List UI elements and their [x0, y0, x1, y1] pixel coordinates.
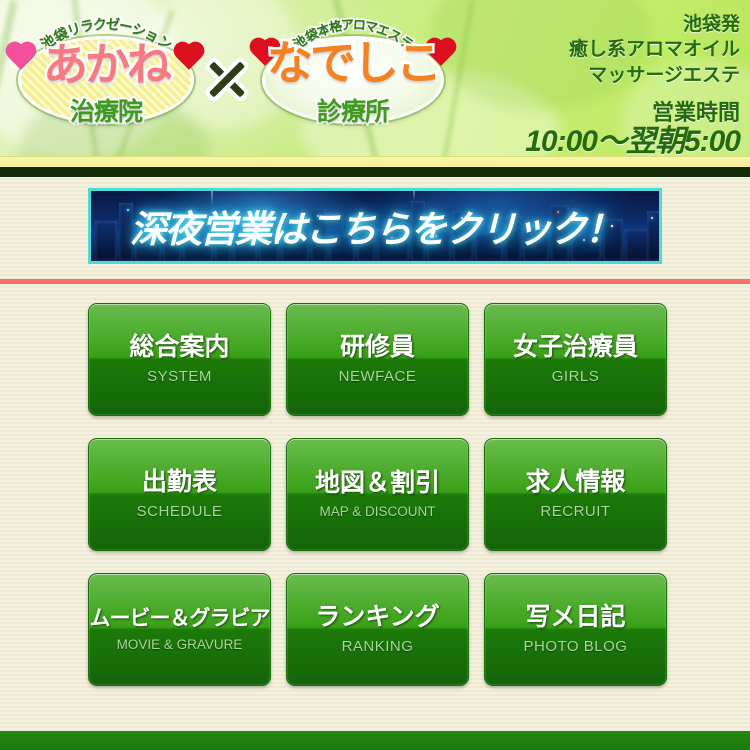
logo-nadeshiko-sub: 診療所: [248, 92, 458, 128]
menu-button-label-jp: 総合案内: [129, 335, 229, 360]
yellow-divider-band: [0, 156, 750, 167]
menu-button-label-en: MAP & DISCOUNT: [319, 505, 435, 519]
menu-button-system[interactable]: 総合案内SYSTEM: [88, 303, 271, 416]
header-info: 池袋発 癒し系アロマオイル マッサージエステ 営業時間 10:00〜翌朝5:00: [440, 12, 740, 156]
late-night-banner[interactable]: 深夜営業はこちらをクリック！: [88, 188, 662, 264]
menu-button-label-jp: 出勤表: [142, 470, 217, 495]
menu-button-label-en: RECRUIT: [540, 504, 610, 519]
menu-button-label-en: MOVIE & GRAVURE: [117, 638, 243, 652]
menu-button-label-jp: 研修員: [340, 335, 415, 360]
logo-akane[interactable]: 池袋リラクゼーション あかね 治療院: [8, 14, 204, 134]
logo-nadeshiko-main: なでしこ: [248, 40, 458, 86]
menu-button-label-jp: ムービー＆グラビア: [90, 608, 270, 629]
menu-button-label-jp: 写メ日記: [525, 605, 625, 630]
menu-button-recruit[interactable]: 求人情報RECRUIT: [484, 438, 667, 551]
menu-button-photo-blog[interactable]: 写メ日記PHOTO BLOG: [484, 573, 667, 686]
menu-button-movie-gravure[interactable]: ムービー＆グラビアMOVIE & GRAVURE: [88, 573, 271, 686]
menu-button-label-en: RANKING: [342, 639, 414, 654]
menu-button-label-jp: ランキング: [315, 605, 439, 630]
header-tagline-line2: 癒し系アロマオイル: [440, 37, 740, 62]
menu-button-label-en: SYSTEM: [147, 369, 212, 384]
cross-separator-icon: [203, 55, 251, 103]
business-hours-label: 営業時間: [440, 100, 740, 125]
menu-button-ranking[interactable]: ランキングRANKING: [286, 573, 469, 686]
logo-akane-main: あかね: [8, 42, 204, 87]
site-header: 池袋リラクゼーション あかね 治療院 池袋本格アロマエステ なでしこ 診療所 池…: [0, 0, 750, 156]
menu-button-label-en: NEWFACE: [339, 369, 417, 384]
menu-button-label-jp: 求人情報: [525, 470, 625, 495]
footer-band: [0, 731, 750, 750]
header-tagline-line3: マッサージエステ: [440, 63, 740, 88]
menu-button-girls[interactable]: 女子治療員GIRLS: [484, 303, 667, 416]
menu-button-map-discount[interactable]: 地図＆割引MAP & DISCOUNT: [286, 438, 469, 551]
menu-button-label-en: GIRLS: [552, 369, 600, 384]
page-root: 池袋リラクゼーション あかね 治療院 池袋本格アロマエステ なでしこ 診療所 池…: [0, 0, 750, 750]
dark-green-divider-band: [0, 167, 750, 177]
menu-button-schedule[interactable]: 出勤表SCHEDULE: [88, 438, 271, 551]
late-night-banner-text: 深夜営業はこちらをクリック！: [91, 191, 659, 261]
business-hours-value: 10:00〜翌朝5:00: [440, 125, 740, 156]
menu-button-label-en: PHOTO BLOG: [524, 639, 628, 654]
main-menu-grid: 総合案内SYSTEM研修員NEWFACE女子治療員GIRLS出勤表SCHEDUL…: [88, 303, 668, 686]
coral-divider-line: [0, 279, 750, 284]
menu-button-label-jp: 地図＆割引: [315, 471, 440, 496]
menu-button-newface[interactable]: 研修員NEWFACE: [286, 303, 469, 416]
logo-akane-sub: 治療院: [8, 92, 204, 128]
header-tagline-line1: 池袋発: [440, 12, 740, 37]
menu-button-label-en: SCHEDULE: [137, 504, 223, 519]
menu-button-label-jp: 女子治療員: [513, 335, 638, 360]
logo-nadeshiko[interactable]: 池袋本格アロマエステ なでしこ 診療所: [248, 14, 458, 134]
